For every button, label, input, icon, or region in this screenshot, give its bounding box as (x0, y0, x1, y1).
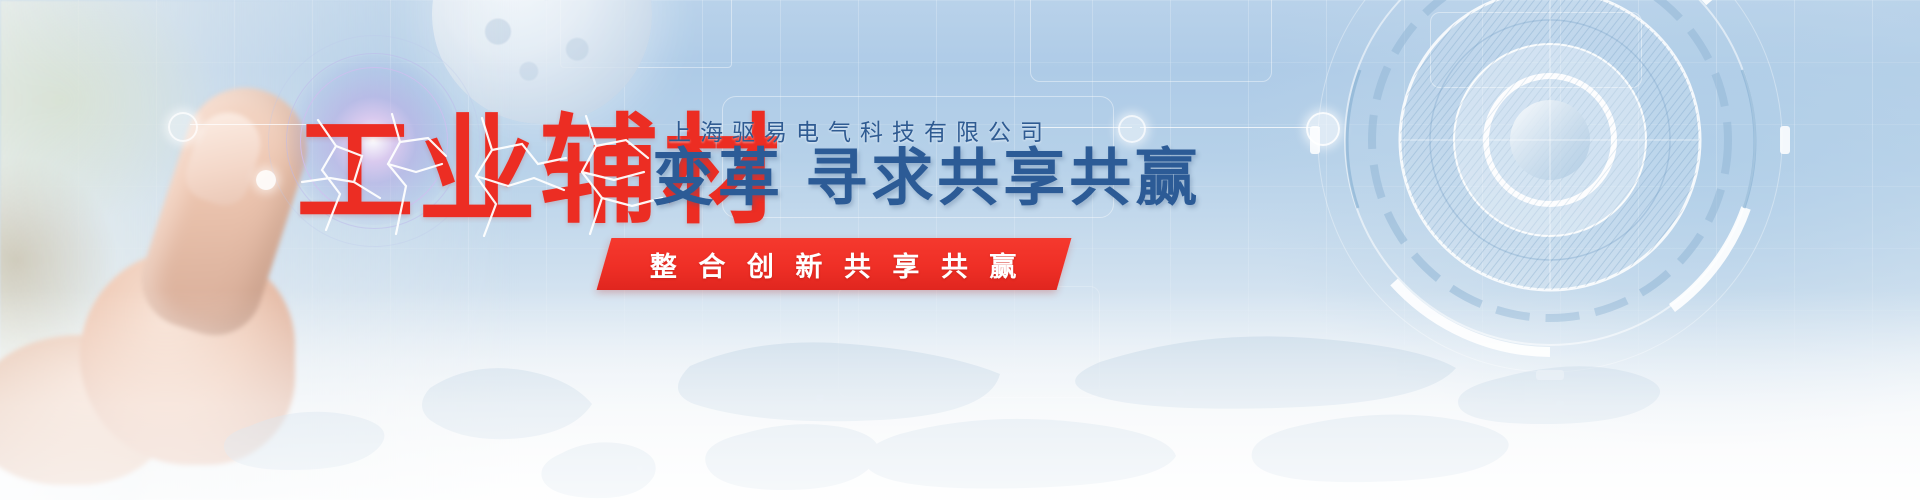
banner-content: 工业辅材 上海驱易 (0, 0, 1920, 500)
hero-banner: 工业辅材 上海驱易 (0, 0, 1920, 500)
company-name: 上海驱易电气科技有限公司 (668, 113, 1052, 147)
tagline-ribbon-text: 整 合 创 新 共 享 共 赢 (650, 245, 1024, 284)
tagline-ribbon: 整 合 创 新 共 享 共 赢 (597, 238, 1071, 290)
banner-slogan: 变革 寻求共享共赢 (652, 148, 1201, 210)
